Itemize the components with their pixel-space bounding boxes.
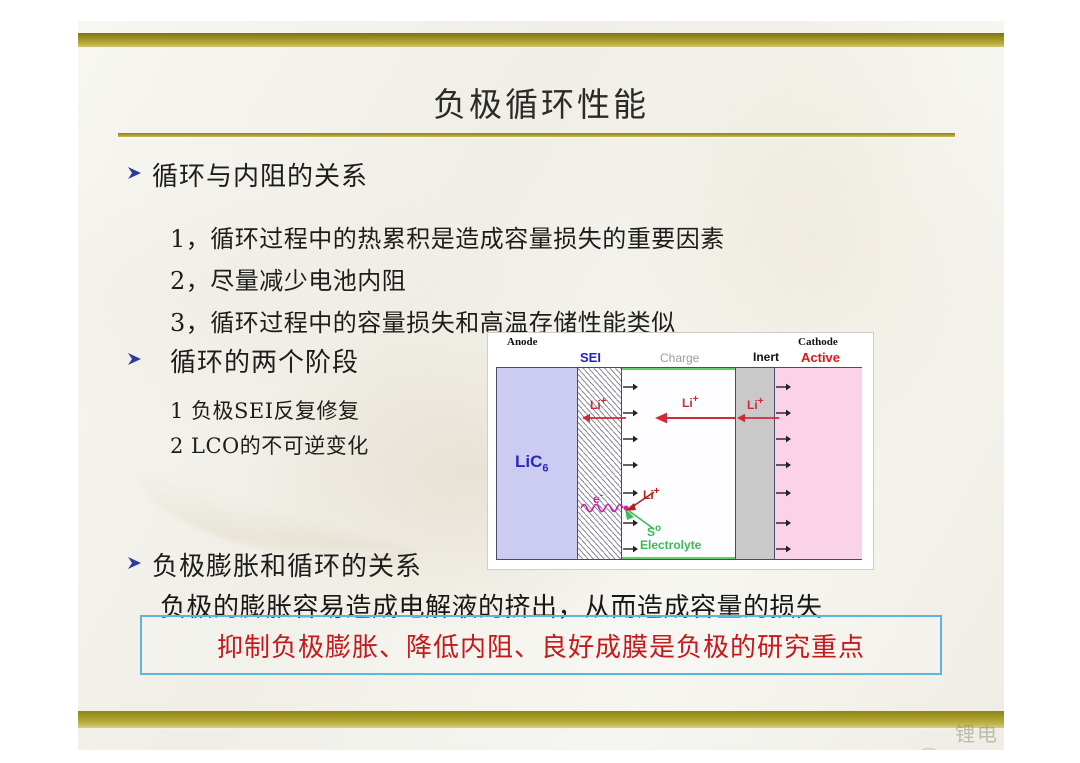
chevron-right-icon bbox=[126, 555, 146, 571]
li-text: Li bbox=[643, 488, 654, 502]
flux-arrow-icon bbox=[776, 434, 792, 444]
figure-label-anode: Anode bbox=[507, 336, 538, 348]
sulfur-text: S bbox=[647, 525, 655, 539]
electrolyte-label: Electrolyte bbox=[640, 538, 701, 552]
cell-schematic-figure: Anode SEI Charge Inert Cathode Active Li… bbox=[487, 332, 874, 570]
li-arrow-electrolyte bbox=[655, 412, 735, 424]
watermark-text: 锂电联盟会长 bbox=[955, 718, 1004, 750]
figure-label-sei: SEI bbox=[580, 350, 601, 365]
flux-arrow-icon bbox=[623, 544, 639, 554]
section-1-heading: 循环与内阻的关系 bbox=[152, 156, 368, 193]
li-text: Li bbox=[747, 398, 758, 412]
li-sup: + bbox=[654, 486, 660, 497]
bullet-heading-cycle-resistance: 循环与内阻的关系 bbox=[126, 156, 368, 193]
li-arrow-sei bbox=[582, 412, 626, 424]
chevron-right-icon bbox=[126, 165, 146, 181]
section-2-item-2: 2 LCO的不可逆变化 bbox=[170, 430, 369, 460]
page-title: 负极循环性能 bbox=[78, 78, 1004, 126]
li-sup: + bbox=[693, 394, 699, 405]
flux-arrow-icon bbox=[623, 460, 639, 470]
bullet-heading-expansion: 负极膨胀和循环的关系 bbox=[126, 546, 422, 583]
top-gold-bar bbox=[78, 33, 1004, 47]
electron-sup: - bbox=[600, 490, 603, 501]
li-text: Li bbox=[682, 396, 693, 410]
li-ion-label-electrolyte: Li+ bbox=[682, 394, 699, 410]
li-arrow-inert bbox=[737, 412, 779, 424]
title-divider bbox=[118, 133, 955, 137]
sulfur-sup: o bbox=[655, 523, 661, 534]
bottom-gold-bar bbox=[78, 711, 1004, 728]
highlight-box: 抑制负极膨胀、降低内阻、良好成膜是负极的研究重点 bbox=[140, 615, 942, 675]
li-text: Li bbox=[590, 398, 601, 412]
slide-canvas: 负极循环性能 循环与内阻的关系 1，循环过程中的热累积是造成容量损失的重要因素 … bbox=[78, 21, 1004, 750]
li-sup: + bbox=[758, 396, 764, 407]
li-ion-label-inert: Li+ bbox=[747, 396, 764, 412]
watermark: 锂电联盟会长 bbox=[918, 718, 1004, 750]
section-2-item-1: 1 负极SEI反复修复 bbox=[170, 395, 360, 425]
wechat-icon bbox=[918, 747, 948, 750]
separator-line-top bbox=[622, 368, 735, 370]
flux-arrow-icon bbox=[776, 544, 792, 554]
flux-arrow-icon bbox=[623, 382, 639, 392]
sulfur-label: So bbox=[647, 523, 661, 539]
figure-label-cathode: Cathode bbox=[798, 336, 838, 348]
chevron-right-icon bbox=[126, 351, 146, 367]
electron-squiggle-icon bbox=[581, 500, 629, 514]
section-2-heading: 循环的两个阶段 bbox=[170, 342, 359, 379]
anode-material-subscript: 6 bbox=[542, 462, 548, 474]
section-3-heading: 负极膨胀和循环的关系 bbox=[152, 546, 422, 583]
li-ion-label-reaction: Li+ bbox=[643, 486, 660, 502]
flux-arrow-icon bbox=[776, 460, 792, 470]
figure-label-active: Active bbox=[801, 350, 840, 365]
li-ion-label-sei: Li+ bbox=[590, 396, 607, 412]
figure-label-inert: Inert bbox=[753, 350, 779, 364]
cell-diagram-body: LiC6 LCO bbox=[496, 367, 862, 560]
section-1-item-1: 1，循环过程中的热累积是造成容量损失的重要因素 bbox=[170, 219, 725, 254]
anode-material-text: LiC bbox=[515, 452, 542, 471]
highlight-box-text: 抑制负极膨胀、降低内阻、良好成膜是负极的研究重点 bbox=[217, 627, 865, 664]
section-1-item-2: 2，尽量减少电池内阻 bbox=[170, 261, 406, 296]
flux-arrow-icon bbox=[776, 488, 792, 498]
flux-arrow-icon bbox=[623, 434, 639, 444]
electron-label: e- bbox=[593, 490, 603, 506]
flux-arrow-icon bbox=[776, 518, 792, 528]
flux-arrow-icon bbox=[776, 382, 792, 392]
li-sup: + bbox=[601, 396, 607, 407]
bullet-heading-two-stages: 循环的两个阶段 bbox=[126, 342, 359, 379]
anode-region: LiC6 bbox=[497, 368, 578, 559]
figure-label-charge: Charge bbox=[660, 351, 699, 365]
electron-text: e bbox=[593, 492, 600, 506]
anode-material-label: LiC6 bbox=[515, 452, 549, 474]
separator-line-bottom bbox=[622, 557, 735, 559]
